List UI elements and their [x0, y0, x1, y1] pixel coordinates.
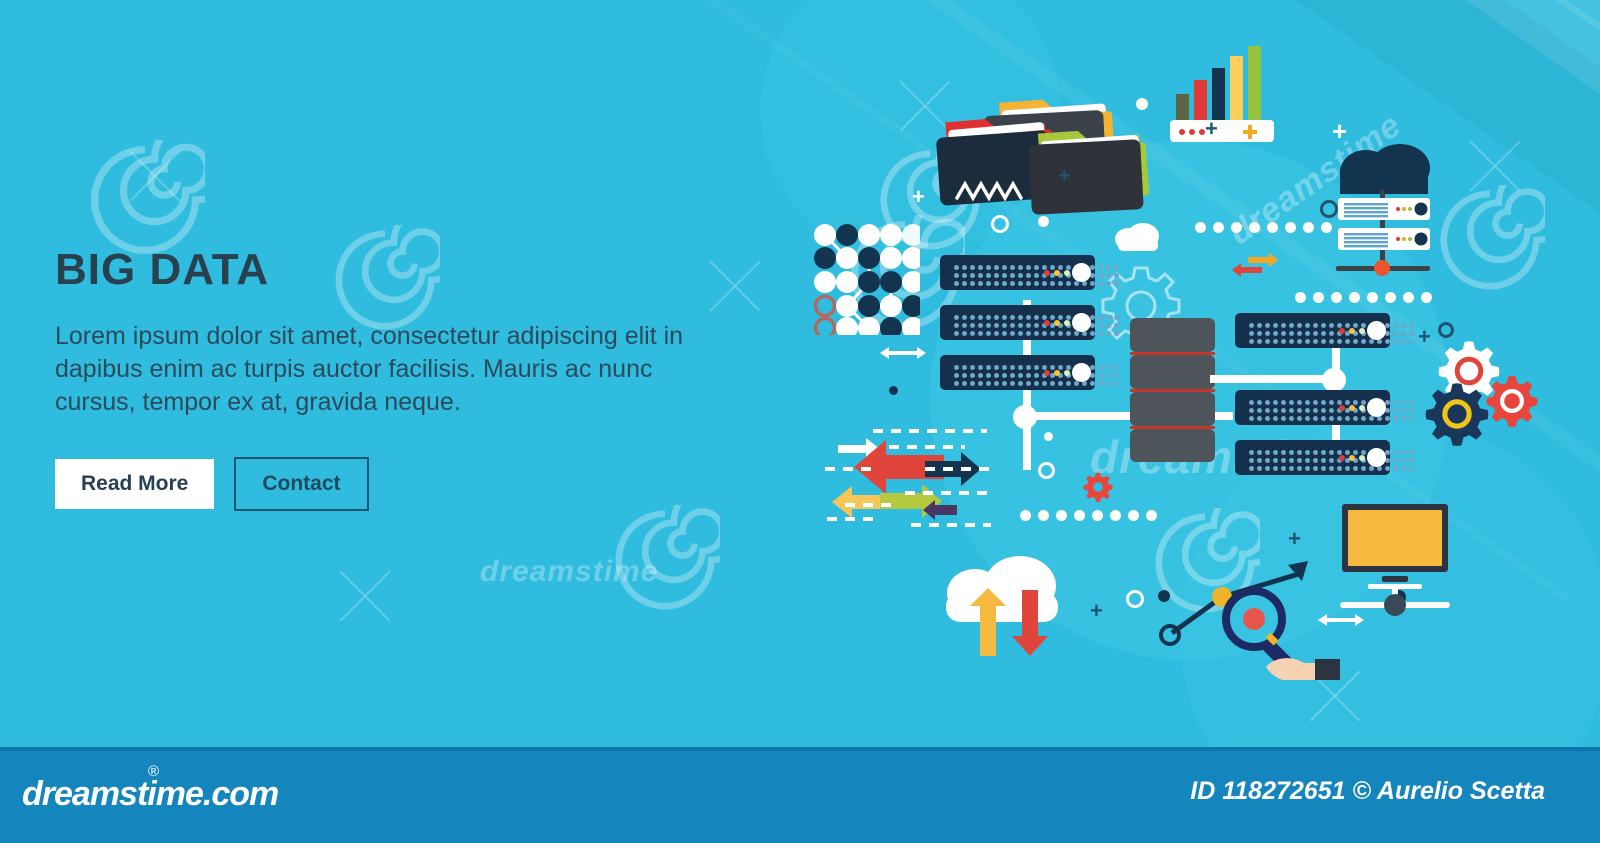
- rack-led-green: [1359, 405, 1365, 411]
- rack-led-green: [1064, 370, 1070, 376]
- double-arrow-left-icon: [880, 345, 926, 366]
- sleeve: [1315, 659, 1340, 680]
- panel-dot-2: [1189, 129, 1195, 135]
- rack-led-green: [1064, 270, 1070, 276]
- server-rack-left-2[interactable]: [940, 305, 1095, 340]
- matrix-nodes: [814, 224, 920, 335]
- rack-led-red: [1339, 405, 1345, 411]
- rack-dot-grid: [1249, 450, 1414, 471]
- dot-row-mid: [1295, 292, 1432, 303]
- plus-icon-3: +: [1058, 165, 1071, 187]
- rack-disc: [1072, 313, 1091, 332]
- plus-icon-6: +: [1288, 528, 1301, 550]
- cloud-server-group: [1318, 140, 1448, 285]
- accent-dot-2: [1038, 216, 1049, 227]
- magnifier-focus-dot: [1243, 608, 1265, 630]
- plus-icon-7: +: [1090, 600, 1103, 622]
- rack-led-red: [1044, 370, 1050, 376]
- wave-squiggle-icon: [955, 180, 1027, 207]
- dash-lines-group: [815, 425, 995, 540]
- rack-dot-grid: [954, 315, 1119, 336]
- database-stack[interactable]: [1130, 318, 1215, 460]
- rack-dot-grid: [1249, 400, 1414, 421]
- accent-ring-1: [991, 215, 1009, 233]
- bar-1: [1176, 94, 1189, 122]
- rack-led-green: [1359, 328, 1365, 334]
- plus-icon-5: +: [1418, 326, 1431, 348]
- rack-led-yellow: [1054, 370, 1060, 376]
- rack-led-yellow: [1054, 320, 1060, 326]
- rack-led-yellow: [1349, 455, 1355, 461]
- image-credit: ID 118272651 © Aurelio Scetta: [1190, 777, 1545, 806]
- db-segment-3: [1130, 392, 1215, 426]
- accent-dot-3: [889, 386, 898, 395]
- gear-navy-icon: [1425, 382, 1489, 451]
- bar-chart-panel: [1170, 120, 1274, 142]
- bar-chart-widget: [1168, 42, 1278, 142]
- rack-led-green: [1064, 320, 1070, 326]
- server-rack-left-1[interactable]: [940, 255, 1095, 290]
- folder-dark-body: [1028, 133, 1144, 219]
- rack-dot-grid: [1249, 323, 1414, 344]
- accent-ring-2: [1320, 200, 1338, 218]
- server-rack-right-1[interactable]: [1235, 313, 1390, 348]
- db-segment-2: [1130, 355, 1215, 389]
- server-rack-right-3[interactable]: [1235, 440, 1390, 475]
- accent-dot-4: [1044, 432, 1053, 441]
- cluster-node-1: [1013, 405, 1037, 429]
- gear-red-icon: [1486, 375, 1538, 432]
- accent-dot-1: [1136, 98, 1148, 110]
- illustration: + + + + + + +: [0, 0, 1600, 740]
- small-cloud-icon: [1110, 222, 1162, 259]
- rack-led-yellow: [1349, 328, 1355, 334]
- rack-led-green: [1359, 455, 1365, 461]
- rack-led-red: [1044, 270, 1050, 276]
- accent-ring-5: [1126, 590, 1144, 608]
- registered-mark-icon: ®: [148, 763, 159, 780]
- db-segment-4: [1130, 429, 1215, 462]
- monitor-group[interactable]: [1340, 502, 1450, 632]
- rack-disc: [1367, 398, 1386, 417]
- bar-5: [1248, 46, 1261, 122]
- bar-chart-svg: [1168, 42, 1278, 142]
- plus-icon-1: +: [1332, 118, 1347, 144]
- rack-disc: [1367, 321, 1386, 340]
- footer-bar: dreamstime.com ® ID 118272651 © Aurelio …: [0, 747, 1600, 843]
- accent-ring-4: [1038, 462, 1055, 479]
- plus-icon-2: +: [1205, 118, 1218, 140]
- monitor-neck: [1382, 576, 1408, 582]
- rack-led-red: [1044, 320, 1050, 326]
- server-rack-left-3[interactable]: [940, 355, 1095, 390]
- rack-disc: [1072, 363, 1091, 382]
- db-segment-1: [1130, 318, 1215, 352]
- dreamstime-logo[interactable]: dreamstime.com: [22, 775, 278, 814]
- trend-node-outline: [1161, 626, 1179, 644]
- rack-dot-grid: [954, 365, 1119, 386]
- dot-row-lower: [1020, 510, 1157, 521]
- plus-icon-4: +: [912, 186, 925, 208]
- panel-dot-1: [1179, 129, 1185, 135]
- footer-divider: [0, 747, 1600, 751]
- rack-disc: [1072, 263, 1091, 282]
- monitor-network-node: [1384, 594, 1406, 616]
- accent-ring-3: [1438, 322, 1454, 338]
- dot-row-top: [1195, 222, 1332, 233]
- cloud-server-node: [1374, 260, 1390, 276]
- right-cluster-node: [1322, 368, 1346, 392]
- analytics-magnifier-group: [1150, 555, 1340, 685]
- rack-led-red: [1339, 328, 1345, 334]
- rack-led-red: [1339, 455, 1345, 461]
- bar-3: [1212, 68, 1225, 122]
- network-matrix: [795, 220, 920, 335]
- right-cluster-wire-horizontal: [1210, 375, 1340, 383]
- bar-4: [1230, 56, 1243, 122]
- cloud-shape: [946, 556, 1058, 622]
- rack-led-yellow: [1349, 405, 1355, 411]
- rack-dot-grid: [954, 265, 1119, 286]
- cloud-icon: [1340, 144, 1430, 194]
- gear-small-red-icon: [1083, 472, 1113, 507]
- rack-led-yellow: [1054, 270, 1060, 276]
- arrow-orange-small-right-icon: [1248, 252, 1278, 273]
- server-rack-right-2[interactable]: [1235, 390, 1390, 425]
- banner-stage: dreamstime dreamstime dreamstime BIG DAT…: [0, 0, 1600, 843]
- upload-cloud-group: [930, 548, 1080, 663]
- rack-disc: [1367, 448, 1386, 467]
- monitor-screen: [1348, 510, 1442, 566]
